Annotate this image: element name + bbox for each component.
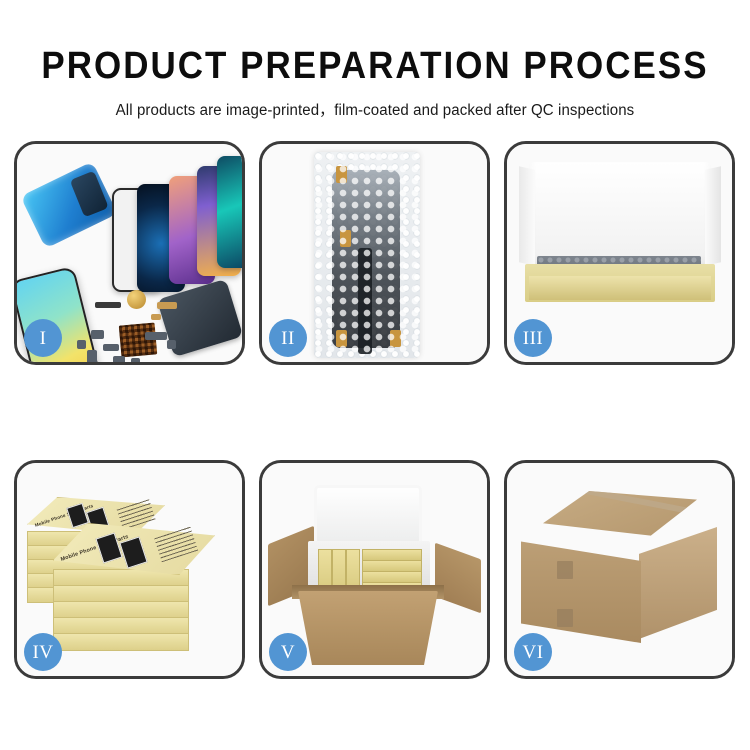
gold-contact-left <box>336 330 347 347</box>
foam-box-lid <box>314 485 422 545</box>
phone-display-teal <box>217 156 245 268</box>
part-small-1 <box>91 330 104 339</box>
step-badge-1: I <box>24 319 62 357</box>
part-small-3 <box>87 350 97 364</box>
sealed-carton <box>521 491 717 653</box>
header: PRODUCT PREPARATION PROCESS All products… <box>0 0 750 119</box>
logic-board-chip <box>119 322 158 357</box>
gold-contact-top <box>336 166 347 183</box>
carton-side-face <box>639 527 717 639</box>
step-panel-4: Mobile Phone Spare Parts Mobile Phone Sp… <box>14 460 245 679</box>
gold-contact-right <box>390 330 401 347</box>
carton-front-face <box>521 535 641 643</box>
part-small-7 <box>167 340 176 349</box>
flex-cable-2 <box>151 314 161 320</box>
screen-protector-film <box>20 161 117 248</box>
carton-handle-top <box>557 561 573 579</box>
part-small-4 <box>113 356 125 365</box>
white-box-lid <box>529 162 711 268</box>
part-bar-1 <box>95 302 121 308</box>
carton-tape <box>574 486 713 519</box>
part-small-2 <box>103 344 119 351</box>
part-small-5 <box>131 358 140 365</box>
shipping-carton-open <box>298 591 438 665</box>
carton-flap-right <box>435 543 481 614</box>
step-panel-2: II <box>259 141 490 365</box>
step-badge-6: VI <box>514 633 552 671</box>
carton-handle-bottom <box>557 609 573 627</box>
step-panel-1: I <box>14 141 245 365</box>
product-preparation-process-infographic: PRODUCT PREPARATION PROCESS All products… <box>0 0 750 750</box>
page-subtitle: All products are image-printed，film-coat… <box>11 85 739 119</box>
box-stack: Mobile Phone Spare Parts Mobile Phone Sp… <box>23 481 235 661</box>
flex-cable-1 <box>157 302 177 309</box>
flex-cable <box>358 248 372 354</box>
step-badge-5: V <box>269 633 307 671</box>
step-badge-2: II <box>269 319 307 357</box>
part-small-8 <box>77 340 86 349</box>
yellow-box-front <box>529 276 711 300</box>
step-badge-3: III <box>514 319 552 357</box>
gold-contact-mid <box>340 230 351 247</box>
page-title: PRODUCT PREPARATION PROCESS <box>30 0 720 85</box>
step-panel-6: VI <box>504 460 735 679</box>
speaker-module <box>127 290 146 309</box>
step-panel-5: V <box>259 460 490 679</box>
part-small-6 <box>145 332 167 340</box>
step-badge-4: IV <box>24 633 62 671</box>
stack-box-f5 <box>53 633 189 651</box>
process-steps-grid: I II III <box>14 141 736 679</box>
step-panel-3: III <box>504 141 735 365</box>
